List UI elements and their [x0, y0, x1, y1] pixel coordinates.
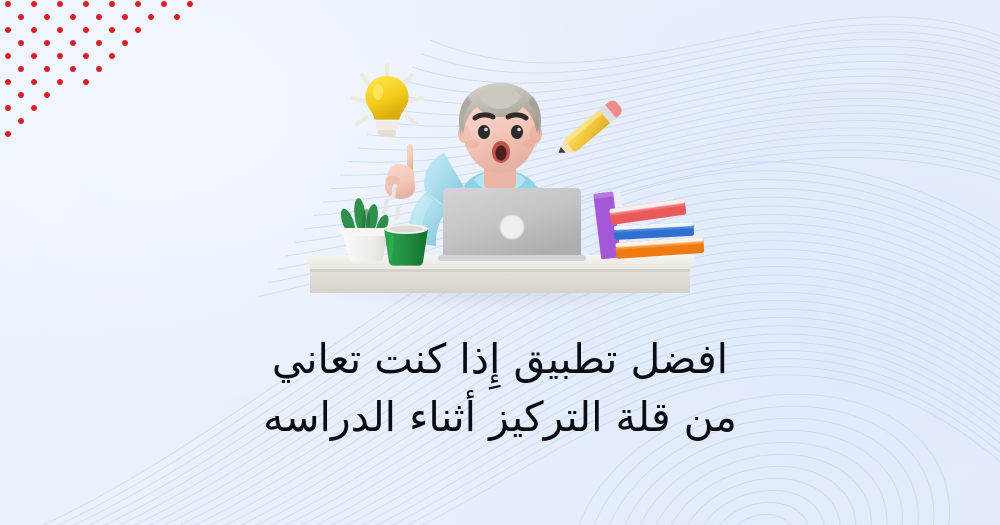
red-dot-triangle-decoration — [0, 0, 230, 235]
laptop — [438, 188, 586, 261]
banner-canvas: افضل تطبيق إِذا كنت تعاني من قلة التركيز… — [0, 0, 1000, 525]
potted-plant — [338, 198, 391, 262]
headline-line-2: من قلة التركيز أثناء الدراسه — [70, 388, 930, 446]
idea-lightbulb-icon — [366, 76, 409, 137]
coffee-cup — [384, 224, 428, 266]
headline-line-1: افضل تطبيق إِذا كنت تعاني — [70, 330, 930, 388]
book-stack — [593, 191, 704, 260]
arabic-headline: افضل تطبيق إِذا كنت تعاني من قلة التركيز… — [0, 330, 1000, 446]
student-illustration — [288, 52, 713, 314]
floating-pencil-icon — [554, 98, 624, 161]
